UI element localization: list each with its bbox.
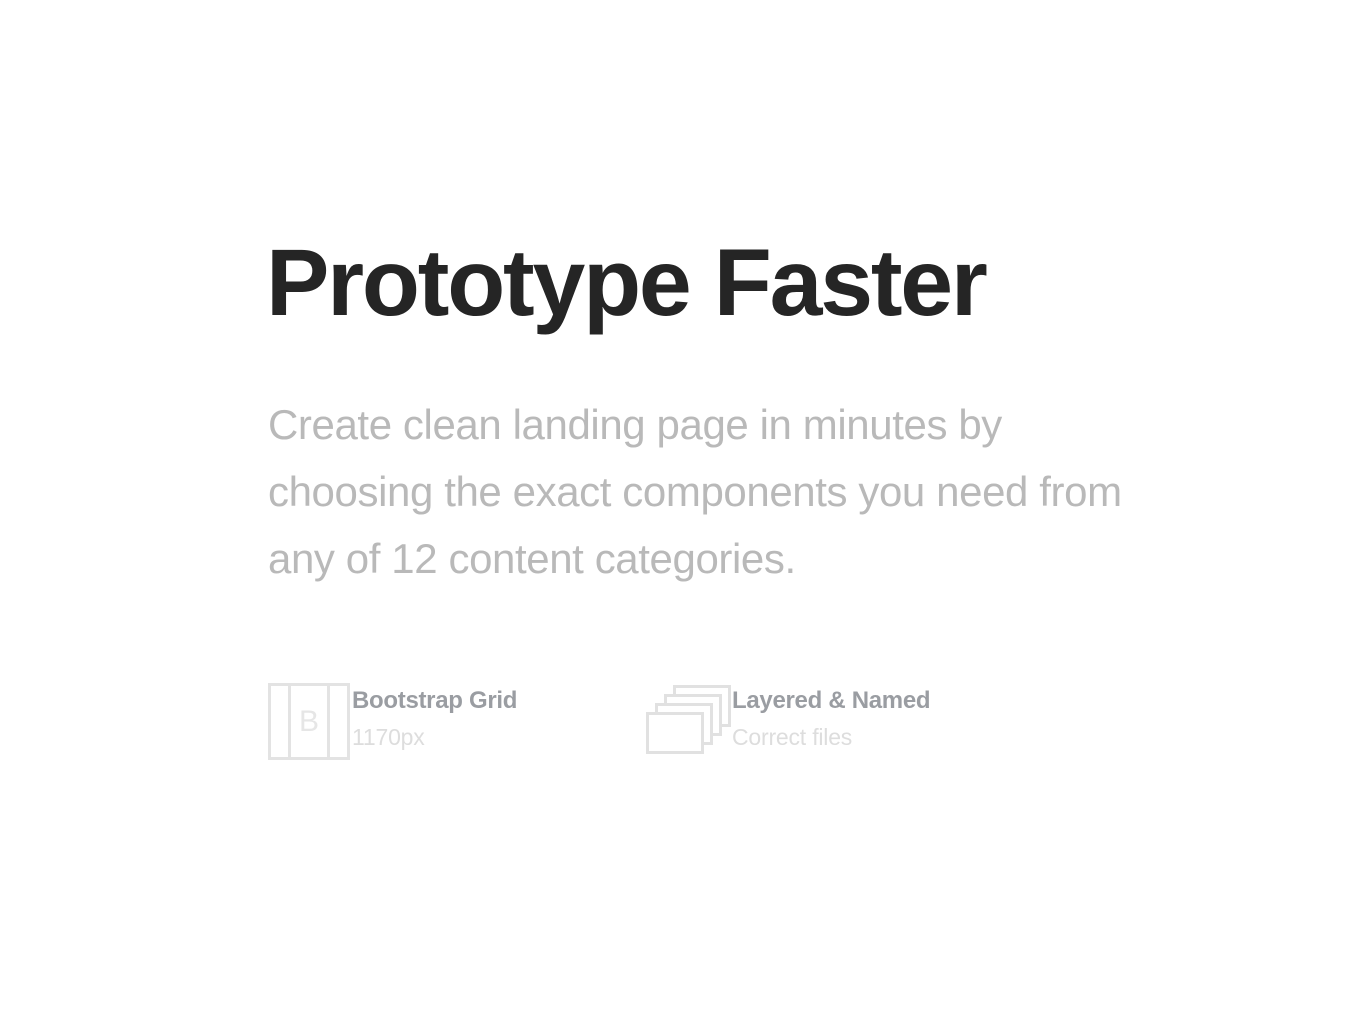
feature-subtitle: 1170px: [352, 723, 517, 752]
feature-item-bootstrap-grid[interactable]: B Bootstrap Grid 1170px: [266, 680, 646, 760]
hero-section: Prototype Faster Create clean landing pa…: [266, 0, 1166, 1020]
feature-text-block: Layered & Named Correct files: [732, 680, 930, 752]
feature-item-layered-named[interactable]: Layered & Named Correct files: [646, 680, 930, 760]
hero-subtitle: Create clean landing page in minutes by …: [268, 391, 1154, 592]
layers-stack-icon: [646, 685, 732, 759]
bootstrap-letter-glyph: B: [271, 707, 347, 737]
feature-text-block: Bootstrap Grid 1170px: [352, 680, 517, 752]
feature-list: B Bootstrap Grid 1170px Layered & Named …: [266, 680, 930, 760]
page-title: Prototype Faster: [266, 236, 986, 331]
bootstrap-grid-icon: B: [268, 683, 350, 760]
feature-subtitle: Correct files: [732, 723, 930, 752]
feature-title: Bootstrap Grid: [352, 686, 517, 716]
layer-sheet-front: [646, 712, 704, 754]
feature-icon-wrapper: [646, 680, 732, 760]
feature-title: Layered & Named: [732, 686, 930, 716]
feature-icon-wrapper: B: [266, 680, 352, 760]
